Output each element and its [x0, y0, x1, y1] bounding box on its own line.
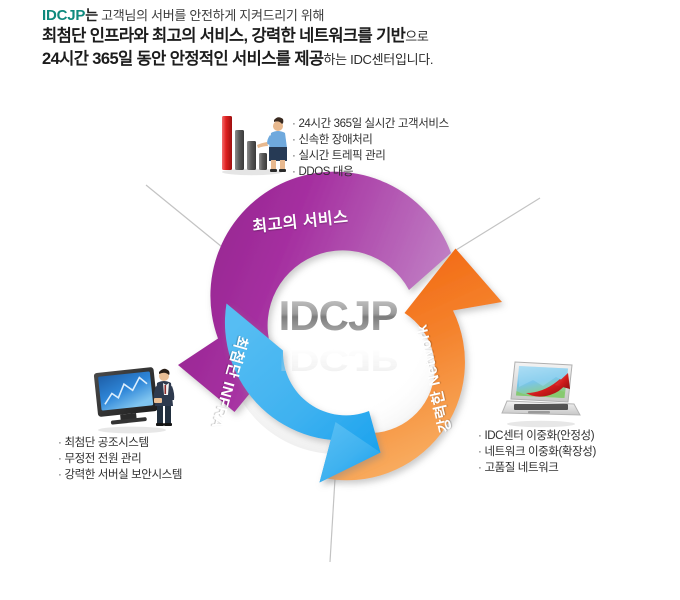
list-item: ·IDC센터 이중화(안정성): [478, 428, 596, 444]
monitor-businessman-icon: [92, 362, 180, 436]
bullet-dot: ·: [58, 437, 61, 449]
list-item-label: 고품질 네트워크: [484, 462, 558, 474]
list-item: ·최첨단 공조시스템: [58, 435, 182, 451]
list-item-label: 네트워크 이중화(확장성): [484, 446, 595, 458]
list-item-label: 최첨단 공조시스템: [64, 437, 148, 449]
bullet-dot: ·: [292, 166, 295, 178]
callout-network: ·IDC센터 이중화(안정성) ·네트워크 이중화(확장성) ·고품질 네트워크: [478, 428, 596, 476]
list-item: ·24시간 365일 실시간 고객서비스: [292, 116, 449, 132]
list-item-label: 실시간 트레픽 관리: [298, 150, 385, 162]
brand-name: IDCJP: [42, 7, 85, 24]
list-item: ·강력한 서버실 보안시스템: [58, 467, 182, 483]
list-item: ·무정전 전원 관리: [58, 451, 182, 467]
headline-line-1-rest: 고객님의 서버를 안전하게 지켜드리기 위해: [98, 8, 324, 23]
diagram-stage: 최고의 서비스 강력한 Network 최첨단 INFRA IDCJP IDCJ…: [0, 90, 680, 600]
list-item: ·신속한 장애처리: [292, 132, 449, 148]
list-item-label: 신속한 장애처리: [298, 134, 372, 146]
list-item: ·고품질 네트워크: [478, 460, 596, 476]
list-item: ·실시간 트레픽 관리: [292, 148, 449, 164]
list-item-label: 강력한 서버실 보안시스템: [64, 469, 182, 481]
cycle-ring-svg: [172, 190, 502, 506]
callout-network-list: ·IDC센터 이중화(안정성) ·네트워크 이중화(확장성) ·고품질 네트워크: [478, 428, 596, 476]
headline-line-1: IDCJP는 고객님의 서버를 안전하게 지켜드리기 위해: [42, 6, 642, 25]
headline-line-2-tail: 으로: [405, 29, 428, 44]
list-item: ·DDOS 대응: [292, 164, 449, 180]
callout-infra-list: ·최첨단 공조시스템 ·무정전 전원 관리 ·강력한 서버실 보안시스템: [58, 435, 182, 483]
page-headline: IDCJP는 고객님의 서버를 안전하게 지켜드리기 위해 최첨단 인프라와 최…: [42, 6, 642, 71]
laptop-arrow-icon: [498, 353, 584, 431]
brand-suffix: 는: [85, 7, 98, 23]
callout-service: ·24시간 365일 실시간 고객서비스 ·신속한 장애처리 ·실시간 트레픽 …: [292, 116, 449, 180]
bullet-dot: ·: [478, 462, 481, 474]
bullet-dot: ·: [292, 134, 295, 146]
callout-service-list: ·24시간 365일 실시간 고객서비스 ·신속한 장애처리 ·실시간 트레픽 …: [292, 116, 449, 180]
bullet-dot: ·: [292, 150, 295, 162]
headline-line-3-tail: 하는 IDC센터입니다.: [324, 52, 434, 67]
page-root: IDCJP는 고객님의 서버를 안전하게 지켜드리기 위해 최첨단 인프라와 최…: [0, 0, 680, 600]
list-item-label: 무정전 전원 관리: [64, 453, 141, 465]
bullet-dot: ·: [478, 446, 481, 458]
callout-infra: ·최첨단 공조시스템 ·무정전 전원 관리 ·강력한 서버실 보안시스템: [58, 435, 182, 483]
bar-chart-person-icon: [218, 108, 292, 178]
list-item-label: 24시간 365일 실시간 고객서비스: [298, 118, 448, 130]
list-item-label: IDC센터 이중화(안정성): [484, 430, 594, 442]
bullet-dot: ·: [58, 469, 61, 481]
headline-line-3-main: 24시간 365일 동안 안정적인 서비스를 제공: [42, 50, 324, 68]
list-item-label: DDOS 대응: [298, 166, 353, 178]
bullet-dot: ·: [478, 430, 481, 442]
headline-line-2-main: 최첨단 인프라와 최고의 서비스, 강력한 네트워크를 기반: [42, 27, 405, 45]
bullet-dot: ·: [292, 118, 295, 130]
bullet-dot: ·: [58, 453, 61, 465]
headline-line-3: 24시간 365일 동안 안정적인 서비스를 제공하는 IDC센터입니다.: [42, 48, 642, 71]
headline-line-2: 최첨단 인프라와 최고의 서비스, 강력한 네트워크를 기반으로: [42, 25, 642, 48]
cycle-ring: 최고의 서비스 강력한 Network 최첨단 INFRA IDCJP IDCJ…: [172, 190, 502, 506]
list-item: ·네트워크 이중화(확장성): [478, 444, 596, 460]
